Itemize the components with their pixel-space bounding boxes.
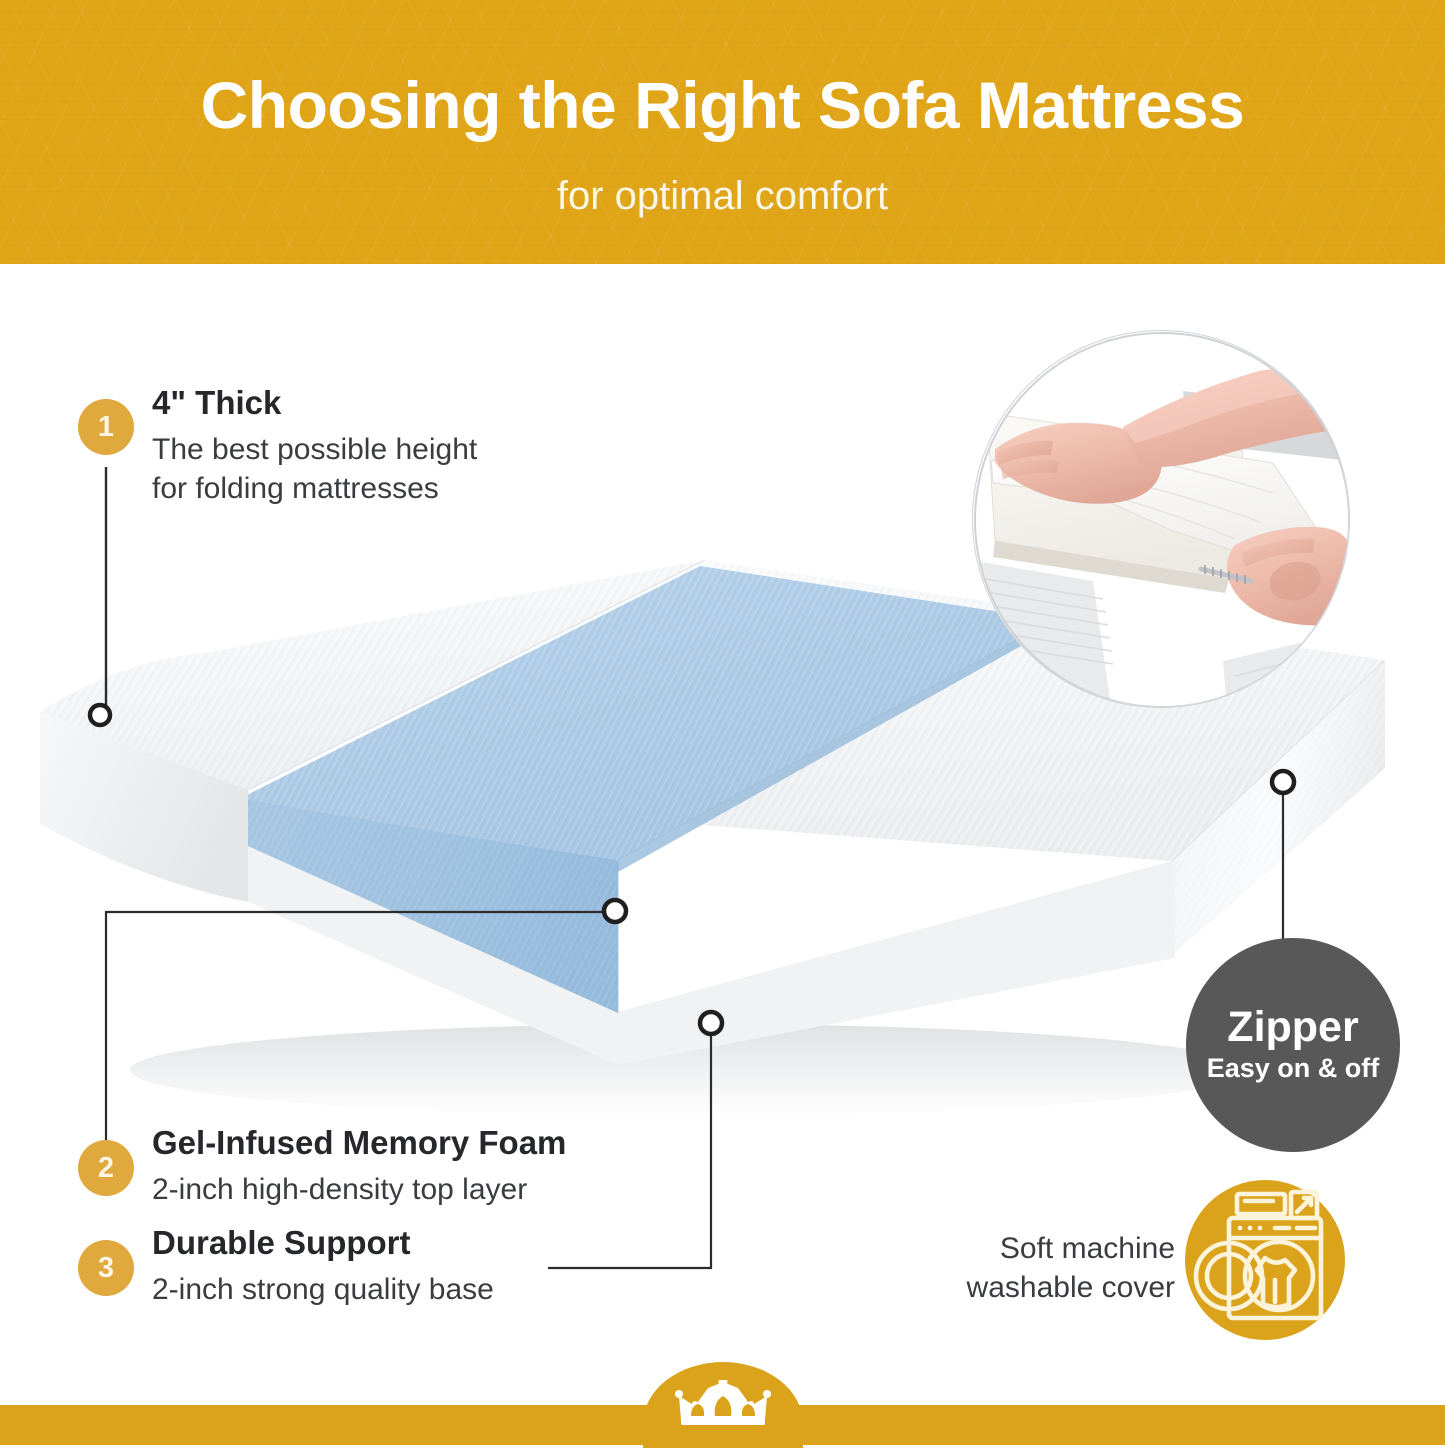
crown-logo [675,1380,771,1426]
callout-badge-2[interactable]: 2 [78,1140,134,1196]
callout-desc-1-line1: The best possible height [152,431,477,469]
washing-machine-icon [1185,1180,1345,1340]
washable-cover-line1: Soft machine [930,1229,1175,1268]
hands-unzipping-cover-photo [972,330,1350,708]
callout-title-2: Gel-Infused Memory Foam [152,1126,566,1159]
callout-desc-1-line2: for folding mattresses [152,470,439,508]
zipper-badge-title: Zipper [1227,1005,1358,1050]
callout-badge-1[interactable]: 1 [78,399,134,455]
washable-cover-line2: washable cover [930,1268,1175,1307]
zipper-badge-subtitle: Easy on & off [1207,1052,1380,1084]
washable-cover-label: Soft machine washable cover [930,1229,1175,1307]
callout-title-1: 4" Thick [152,386,281,419]
zipper-badge[interactable]: Zipper Easy on & off [1186,938,1400,1152]
washable-cover-icon-circle[interactable] [1185,1180,1345,1340]
callout-desc-3-line1: 2-inch strong quality base [152,1271,494,1309]
infographic-canvas: Choosing the Right Sofa Mattress for opt… [0,0,1445,1445]
callout-desc-2-line1: 2-inch high-density top layer [152,1171,527,1209]
callout-title-3: Durable Support [152,1226,411,1259]
callout-badge-3[interactable]: 3 [78,1240,134,1296]
